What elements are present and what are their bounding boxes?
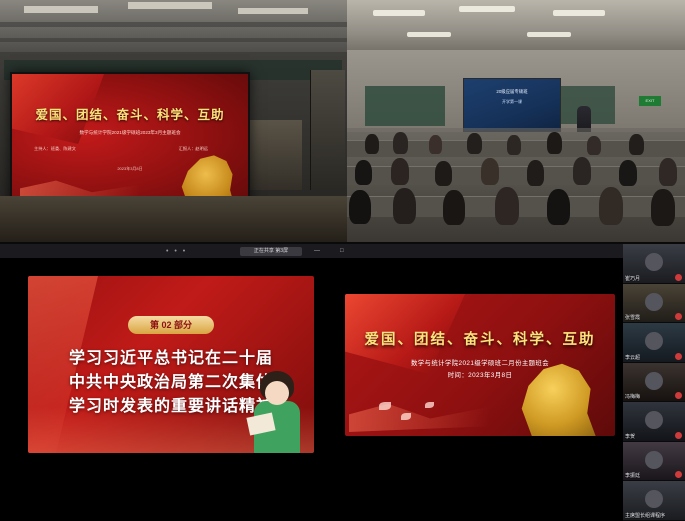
student-figure: [355, 160, 372, 185]
ceiling-light: [238, 8, 308, 14]
mic-muted-icon[interactable]: [675, 353, 682, 360]
meeting-top-bar: • • • 正在共享 第3屏 — □: [0, 244, 623, 258]
slide-time: 时间：2023年3月8日: [345, 370, 615, 379]
student-figure: [391, 158, 409, 185]
classroom-door: [310, 70, 345, 190]
shared-content-stage: 第 02 部分 学习习近平总书记在二十届 中共中央政治局第二次集体 学习时发表的…: [0, 258, 623, 475]
participant-tile[interactable]: 李云超: [623, 323, 685, 363]
participant-tile[interactable]: 李贺: [623, 402, 685, 442]
shared-slide-left: 第 02 部分 学习习近平总书记在二十届 中共中央政治局第二次集体 学习时发表的…: [28, 276, 314, 453]
desk-row-near: [0, 196, 347, 242]
student-figure: [349, 190, 371, 224]
ceiling-light: [24, 6, 98, 13]
student-figure: [435, 161, 452, 186]
section-badge: 第 02 部分: [128, 316, 214, 334]
mic-muted-icon[interactable]: [675, 313, 682, 320]
dove-graphic: [379, 402, 391, 410]
screen-line-1: 20级应届专硕班: [464, 89, 560, 95]
dove-graphic: [401, 413, 411, 420]
classroom-front-photo: 爱国、团结、奋斗、科学、互助 数学与统计学院2021级学硕班2023年3月主题班…: [0, 0, 347, 242]
slide-presenter-note: 汇报人：赵明远: [179, 146, 208, 153]
minimize-icon[interactable]: —: [314, 248, 320, 254]
seating-area: [347, 132, 685, 242]
meeting-app-window: • • • 正在共享 第3屏 — □ 第 02 部分 学习习近平总书记在二十届 …: [0, 244, 685, 475]
ceiling: [347, 0, 685, 56]
student-figure: [619, 160, 637, 186]
photo-row: 爱国、团结、奋斗、科学、互助 数学与统计学院2021级学硕班2023年3月主题班…: [0, 0, 685, 242]
student-figure: [547, 132, 562, 154]
slide-subtitle: 数学与统计学院2021级学硕班2023年3月主题班会: [12, 129, 248, 136]
maximize-icon[interactable]: □: [340, 248, 344, 254]
mic-muted-icon[interactable]: [675, 432, 682, 439]
illustration-face: [265, 381, 289, 405]
student-figure: [365, 134, 379, 154]
ceiling-light: [128, 2, 212, 9]
blackboard-left: [365, 86, 445, 126]
slide-title: 爱国、团结、奋斗、科学、互助: [12, 104, 248, 123]
participant-name: 李振廷: [625, 472, 640, 479]
exit-sign-label: EXIT: [639, 96, 661, 106]
participant-tile[interactable]: 崔巧月: [623, 244, 685, 284]
participant-name: 崔巧月: [625, 275, 640, 282]
participant-tile[interactable]: 张雪霞: [623, 284, 685, 324]
ceiling-lamp: [527, 32, 571, 37]
avatar: [645, 411, 663, 429]
student-figure: [587, 136, 601, 155]
student-figure: [599, 187, 623, 225]
ceiling-lamp: [373, 10, 425, 16]
ceiling-lamp: [407, 32, 451, 37]
participant-strip[interactable]: 崔巧月 张雪霞 李云超 冯梅梅 李贺: [623, 244, 685, 475]
participant-name: 李贺: [625, 433, 635, 440]
illustration-student: [248, 371, 308, 453]
shared-slide-right: 爱国、团结、奋斗、科学、互助 数学与统计学院2021级学硕班二月份主题班会 时间…: [345, 294, 615, 436]
ceiling-beam: [0, 38, 347, 42]
participant-name: 冯梅梅: [625, 393, 640, 400]
student-figure: [481, 158, 499, 185]
student-figure: [393, 188, 416, 224]
screen-share-status-badge[interactable]: 正在共享 第3屏: [240, 247, 302, 256]
lecture-hall-photo: EXIT 20级应届专硕班 开学第一课: [347, 0, 685, 242]
student-figure: [659, 158, 677, 186]
participant-name: 张雪霞: [625, 314, 640, 321]
ceiling-beam: [0, 22, 347, 27]
avatar: [645, 332, 663, 350]
dove-graphic: [425, 402, 434, 408]
more-options-icon[interactable]: • • •: [166, 248, 187, 255]
avatar: [645, 253, 663, 271]
mic-muted-icon[interactable]: [675, 274, 682, 281]
screen-line-2: 开学第一课: [464, 99, 560, 105]
screenshot-root: 爱国、团结、奋斗、科学、互助 数学与统计学院2021级学硕班2023年3月主题班…: [0, 0, 685, 475]
slide-line-1: 学习习近平总书记在二十届: [28, 344, 314, 368]
slide-subtitle: 数学与统计学院2021级学硕班二月份主题班会: [345, 358, 615, 367]
avatar: [645, 293, 663, 311]
student-figure: [573, 157, 591, 185]
avatar: [645, 490, 663, 508]
participant-name: 李云超: [625, 354, 640, 361]
mic-muted-icon[interactable]: [675, 392, 682, 399]
exit-sign: EXIT: [639, 96, 661, 106]
student-figure: [507, 135, 521, 155]
student-figure: [443, 190, 465, 225]
participant-name: 主席盟长组课程序: [625, 512, 665, 519]
participant-tile[interactable]: 冯梅梅: [623, 363, 685, 403]
projection-screen: 20级应届专硕班 开学第一课: [463, 78, 561, 132]
student-figure: [393, 132, 408, 154]
ceiling-lamp: [459, 6, 515, 12]
student-figure: [527, 160, 544, 186]
student-figure: [547, 189, 570, 225]
slide-host-note: 主持人：班委、陈建文: [34, 146, 76, 153]
slide-title: 爱国、团结、奋斗、科学、互助: [345, 328, 615, 349]
ribbon-graphic: [349, 400, 489, 432]
ceiling-lamp: [553, 10, 605, 16]
student-figure: [629, 134, 644, 155]
student-figure: [495, 187, 519, 225]
projector-screen: 爱国、团结、奋斗、科学、互助 数学与统计学院2021级学硕班2023年3月主题班…: [10, 72, 250, 212]
student-figure: [651, 189, 675, 226]
lectern: [248, 120, 302, 190]
student-figure: [429, 135, 442, 154]
participant-tile[interactable]: 主席盟长组课程序: [623, 481, 685, 521]
avatar: [645, 372, 663, 390]
participant-tile[interactable]: 李振廷: [623, 442, 685, 482]
student-figure: [467, 133, 482, 154]
avatar: [645, 451, 663, 469]
slide-date: 2023年3月8日: [12, 166, 248, 172]
